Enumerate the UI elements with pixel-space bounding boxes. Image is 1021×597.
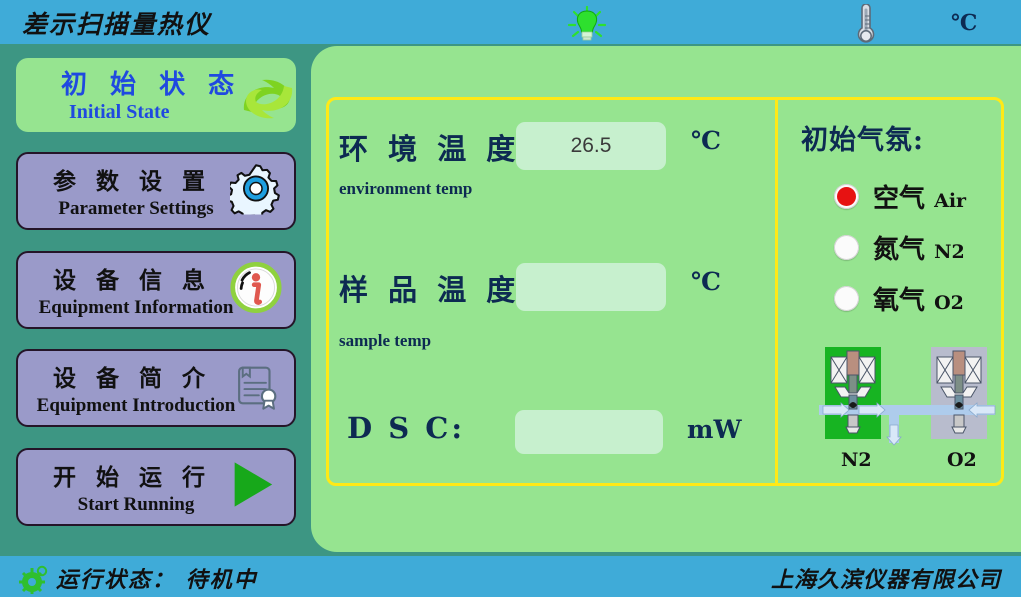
swirl-icon [238,72,298,124]
content-box: 环 境 温 度: environment temp 26.5 ℃ 样 品 温 度… [326,97,1004,486]
radio-label-o2: 氧气 O2 [873,280,964,317]
radio-option-o2[interactable]: 氧气 O2 [834,280,964,317]
readout-environment-temp: 环 境 温 度: [339,126,536,168]
radio-dot-n2[interactable] [834,235,859,260]
sidebar-item-equipment-information[interactable]: 设 备 信 息 Equipment Information [16,251,296,329]
thermometer-icon [849,4,883,44]
status-bar: 运行状态： 待机中 上海久滨仪器有限公司 [0,556,1021,597]
readout-sample-temp-en: sample temp [339,331,431,351]
certificate-icon [232,361,282,416]
dsc-instrument-app: 差示扫描量热仪 [0,0,1021,597]
readout-label-cn: 环 境 温 度: [339,126,536,168]
nav-label-en: Equipment Information [18,297,254,319]
gear-icon [230,163,282,220]
state-label-en: Initial State [69,101,170,124]
temperature-unit-label: ℃ [951,10,977,36]
info-icon [230,262,282,319]
sample-temp-value[interactable] [516,263,666,311]
nav-label-cn: 开 始 运 行 [18,458,246,492]
play-icon [226,458,276,517]
sidebar-item-start-running[interactable]: 开 始 运 行 Start Running [16,448,296,526]
state-card: 初 始 状 态 Initial State [16,58,296,132]
sidebar: 初 始 状 态 Initial State 参 数 设 置 Parameter … [0,40,313,550]
page-title: 差示扫描量热仪 [22,5,211,41]
readout-dsc-label: D S C: [347,411,465,445]
status-badge: 运行状态： 待机中 [56,562,258,594]
gear-icon [18,564,50,592]
valve-schematic: N2 O2 [819,343,999,478]
nav-label-en: Start Running [18,494,254,516]
nav-label-cn: 设 备 简 介 [18,359,246,393]
radio-label-air: 空气 Air [873,178,966,215]
dsc-value[interactable] [515,410,663,454]
sidebar-item-parameter-settings[interactable]: 参 数 设 置 Parameter Settings [16,152,296,230]
nav-label-cn: 参 数 设 置 [18,162,246,196]
atmosphere-title: 初始气氛: [801,118,924,157]
radio-dot-air[interactable] [834,184,859,209]
lightbulb-on-icon [566,6,608,42]
state-label-cn: 初 始 状 态 [61,64,241,101]
radio-option-n2[interactable]: 氮气 N2 [834,229,965,266]
radio-option-air[interactable]: 空气 Air [834,178,966,215]
panel-divider [775,100,778,483]
sidebar-item-equipment-introduction[interactable]: 设 备 简 介 Equipment Introduction [16,349,296,427]
sample-temp-unit: ℃ [691,267,721,296]
top-bar: 差示扫描量热仪 [0,0,1021,44]
valve-caption-n2: N2 [841,449,872,471]
readout-label-cn: 样 品 温 度: [339,267,536,309]
nav-label-en: Parameter Settings [18,198,254,220]
main-panel: 环 境 温 度: environment temp 26.5 ℃ 样 品 温 度… [311,46,1021,552]
environment-temp-value[interactable]: 26.5 [516,122,666,170]
radio-label-n2: 氮气 N2 [873,229,965,266]
readout-sample-temp: 样 品 温 度: [339,267,536,309]
nav-label-en: Equipment Introduction [18,395,254,417]
company-name: 上海久滨仪器有限公司 [771,562,1001,594]
environment-temp-unit: ℃ [691,126,721,155]
dsc-unit: mW [687,415,742,444]
radio-dot-o2[interactable] [834,286,859,311]
valve-caption-o2: O2 [947,449,977,471]
nav-label-cn: 设 备 信 息 [18,261,246,295]
readout-environment-temp-en: environment temp [339,179,472,199]
